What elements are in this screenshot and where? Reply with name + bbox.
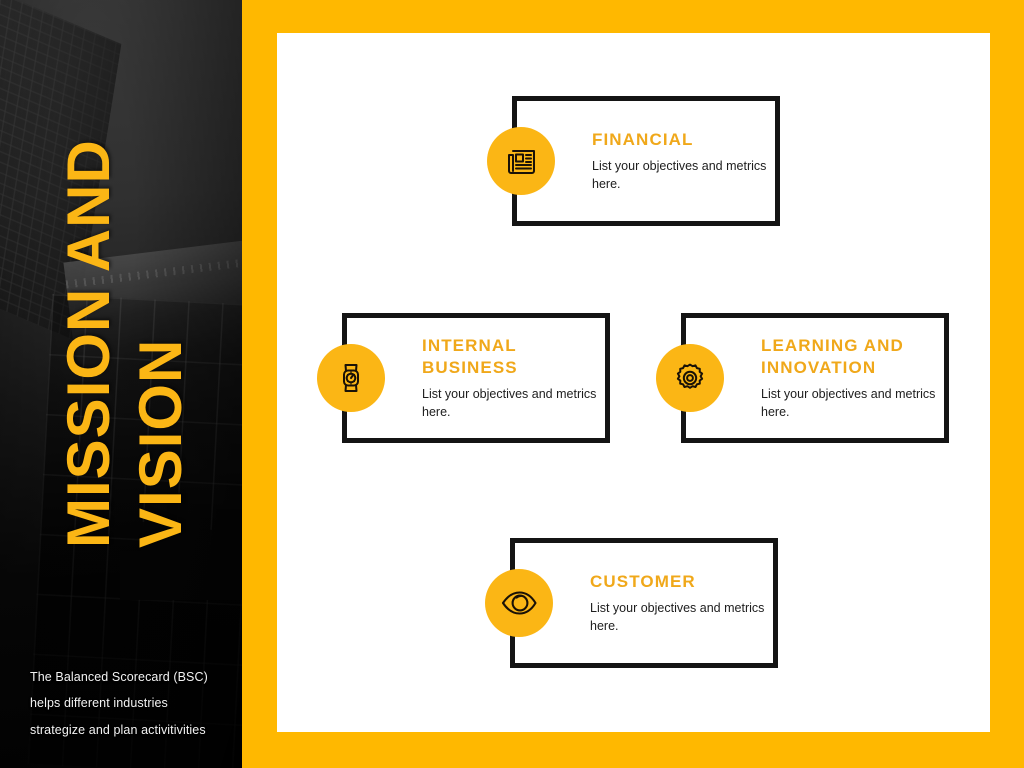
card-financial[interactable]: FINANCIAL List your objectives and metri…: [512, 96, 780, 226]
sidebar-panel: MISSION AND VISION The Balanced Scorecar…: [0, 0, 242, 768]
card-financial-body: FINANCIAL List your objectives and metri…: [592, 129, 777, 193]
card-internal-business-body: INTERNAL BUSINESS List your objectives a…: [422, 335, 617, 421]
headline-group: MISSION AND VISION: [0, 0, 242, 768]
card-internal-business[interactable]: INTERNAL BUSINESS List your objectives a…: [342, 313, 610, 443]
card-customer-title: CUSTOMER: [590, 571, 775, 593]
card-customer[interactable]: CUSTOMER List your objectives and metric…: [510, 538, 778, 668]
newspaper-icon: [487, 127, 555, 195]
headline-vision: VISION: [132, 339, 189, 548]
card-learning-and-innovation[interactable]: LEARNING AND INNOVATION List your object…: [681, 313, 949, 443]
card-learning-and-innovation-body: LEARNING AND INNOVATION List your object…: [761, 335, 956, 421]
content-canvas: FINANCIAL List your objectives and metri…: [277, 33, 990, 732]
caption-line-2: helps different industries: [30, 690, 230, 716]
card-learning-and-innovation-description: List your objectives and metrics here.: [761, 385, 956, 421]
gear-icon: [656, 344, 724, 412]
caption-line-1: The Balanced Scorecard (BSC): [30, 664, 230, 690]
card-internal-business-title: INTERNAL BUSINESS: [422, 335, 617, 379]
card-customer-body: CUSTOMER List your objectives and metric…: [590, 571, 775, 635]
sidebar-caption: The Balanced Scorecard (BSC) helps diffe…: [30, 664, 230, 743]
caption-line-3: strategize and plan activitivities: [30, 717, 230, 743]
wristwatch-icon: [317, 344, 385, 412]
card-financial-description: List your objectives and metrics here.: [592, 157, 777, 193]
card-learning-and-innovation-title: LEARNING AND INNOVATION: [761, 335, 956, 379]
balanced-scorecard-poster: MISSION AND VISION The Balanced Scorecar…: [0, 0, 1024, 768]
card-customer-description: List your objectives and metrics here.: [590, 599, 775, 635]
card-internal-business-description: List your objectives and metrics here.: [422, 385, 617, 421]
headline-mission-and: MISSION AND: [60, 139, 117, 548]
card-financial-title: FINANCIAL: [592, 129, 777, 151]
eye-icon: [485, 569, 553, 637]
